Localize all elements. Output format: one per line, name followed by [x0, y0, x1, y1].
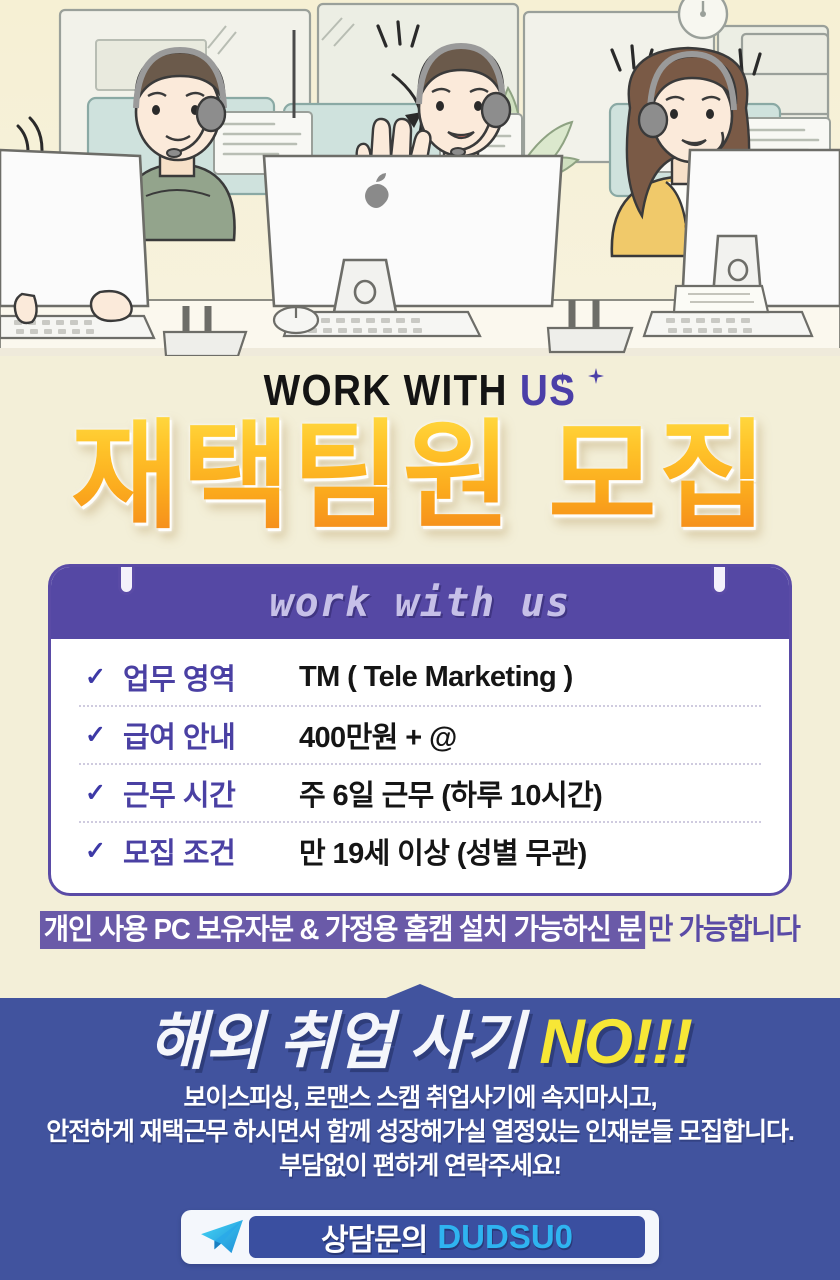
card-pin-left — [118, 564, 135, 595]
requirement-highlight: 개인 사용 PC 보유자분 & 가정용 홈캠 설치 가능하신 분 — [40, 911, 645, 949]
sparkle-icons — [554, 368, 624, 390]
check-icon: ✓ — [85, 665, 123, 690]
row-value: TM ( Tele Marketing ) — [299, 661, 573, 694]
row-value: 만 19세 이상 (성별 무관) — [299, 830, 587, 872]
card-header: work with us — [51, 567, 789, 639]
contact-handle: DUDSU0 — [437, 1218, 573, 1256]
hero-illustration — [0, 0, 840, 372]
requirement-banner: 개인 사용 PC 보유자분 & 가정용 홈캠 설치 가능하신 분만 가능합니다 — [0, 908, 840, 952]
poster-root: WORK WITH US 재택팀원 모집 work with us ✓ 업무 영… — [0, 0, 840, 1280]
notice-headline-white: 해외 취업 사기 — [148, 1007, 539, 1077]
notice-headline: 해외 취업 사기 NO!!! — [0, 1006, 840, 1078]
notice-line: 부담없이 편하게 연락주세요! — [0, 1149, 840, 1183]
check-icon: ✓ — [85, 723, 123, 748]
card-header-label: work with us — [270, 580, 571, 626]
page-title: 재택팀원 모집 — [0, 414, 840, 540]
notice-line: 보이스피싱, 로맨스 스캠 취업사기에 속지마시고, — [0, 1081, 840, 1115]
notice-headline-accent: NO!!! — [539, 1007, 691, 1077]
notice-line: 안전하게 재택근무 하시면서 함께 성장해가실 열정있는 인재분들 모집합니다. — [0, 1115, 840, 1149]
table-row: ✓ 근무 시간 주 6일 근무 (하루 10시간) — [51, 765, 789, 821]
table-row: ✓ 모집 조건 만 19세 이상 (성별 무관) — [51, 823, 789, 879]
table-row: ✓ 급여 안내 400만원 + @ — [51, 707, 789, 763]
requirement-banner-text: 개인 사용 PC 보유자분 & 가정용 홈캠 설치 가능하신 분만 가능합니다 — [40, 910, 800, 950]
row-label: 급여 안내 — [123, 714, 299, 756]
check-icon: ✓ — [85, 781, 123, 806]
row-label: 근무 시간 — [123, 772, 299, 814]
kicker-work-with-us: WORK WITH US — [50, 366, 789, 416]
contact-pill[interactable]: 상담문의 DUDSU0 — [249, 1216, 645, 1258]
check-icon: ✓ — [85, 839, 123, 864]
sparkle-icon-small — [556, 372, 569, 385]
info-card: work with us ✓ 업무 영역 TM ( Tele Marketing… — [48, 564, 792, 896]
requirement-plain: 만 가능합니다 — [645, 914, 800, 946]
row-label: 업무 영역 — [123, 656, 299, 698]
contact-label: 상담문의 — [321, 1215, 427, 1259]
notice-body: 보이스피싱, 로맨스 스캠 취업사기에 속지마시고, 안전하게 재택근무 하시면… — [0, 1081, 840, 1183]
kicker-black-text: WORK WITH — [264, 366, 520, 415]
headline-block: WORK WITH US 재택팀원 모집 — [0, 366, 840, 556]
card-body: ✓ 업무 영역 TM ( Tele Marketing ) ✓ 급여 안내 40… — [51, 639, 789, 879]
row-value: 주 6일 근무 (하루 10시간) — [299, 772, 602, 814]
telegram-paper-plane-icon — [195, 1217, 249, 1257]
card-pin-right — [711, 564, 728, 595]
sparkle-icon-large — [588, 368, 604, 384]
contact-button[interactable]: 상담문의 DUDSU0 — [181, 1210, 659, 1264]
row-label: 모집 조건 — [123, 830, 299, 872]
row-value: 400만원 + @ — [299, 714, 457, 756]
table-row: ✓ 업무 영역 TM ( Tele Marketing ) — [51, 649, 789, 705]
